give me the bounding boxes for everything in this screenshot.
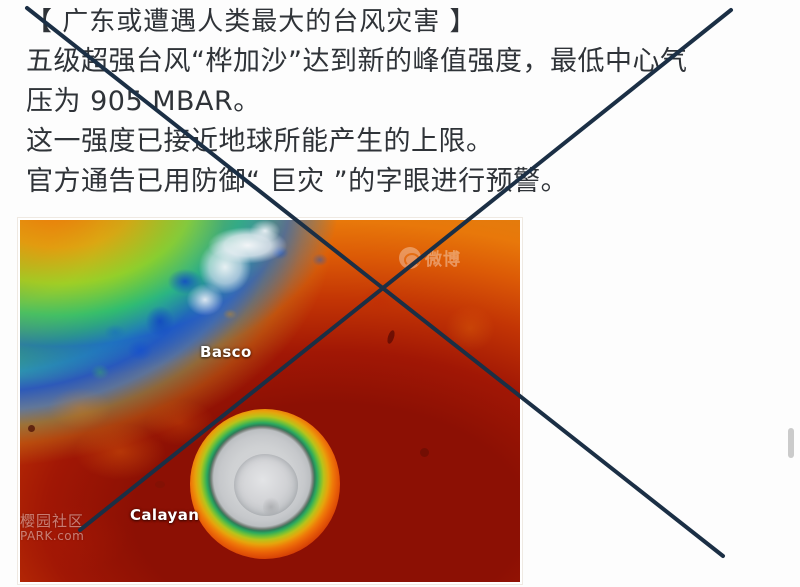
typhoon-eye xyxy=(190,409,340,559)
post-line-3: 压为 905 MBAR。 xyxy=(26,82,778,122)
post-line-headline: 【 广东或遭遇人类最大的台风灾害 】 xyxy=(26,2,778,42)
post-line-4: 这一强度已接近地球所能产生的上限。 xyxy=(26,122,778,162)
island-speck xyxy=(420,448,429,457)
place-label-basco: Basco xyxy=(200,343,252,361)
typhoon-eye-spot xyxy=(263,496,279,518)
island-speck xyxy=(28,425,35,432)
scrollbar-thumb[interactable] xyxy=(788,428,794,458)
place-label-calayan: Calayan xyxy=(130,506,199,524)
post-line-2: 五级超强台风“桦加沙”达到新的峰值强度，最低中心气 xyxy=(26,42,778,82)
post-text-block: 【 广东或遭遇人类最大的台风灾害 】 五级超强台风“桦加沙”达到新的峰值强度，最… xyxy=(26,2,778,202)
satellite-image-frame: Basco Calayan 微博 樱园社区 PARK.com xyxy=(18,218,522,584)
post-line-5: 官方通告已用防御“ 巨灾 ”的字眼进行预警。 xyxy=(26,162,778,202)
island-speck xyxy=(155,481,165,488)
screenshot-root: 【 广东或遭遇人类最大的台风灾害 】 五级超强台风“桦加沙”达到新的峰值强度，最… xyxy=(0,0,800,587)
satellite-image: Basco Calayan 微博 樱园社区 PARK.com xyxy=(20,220,520,582)
